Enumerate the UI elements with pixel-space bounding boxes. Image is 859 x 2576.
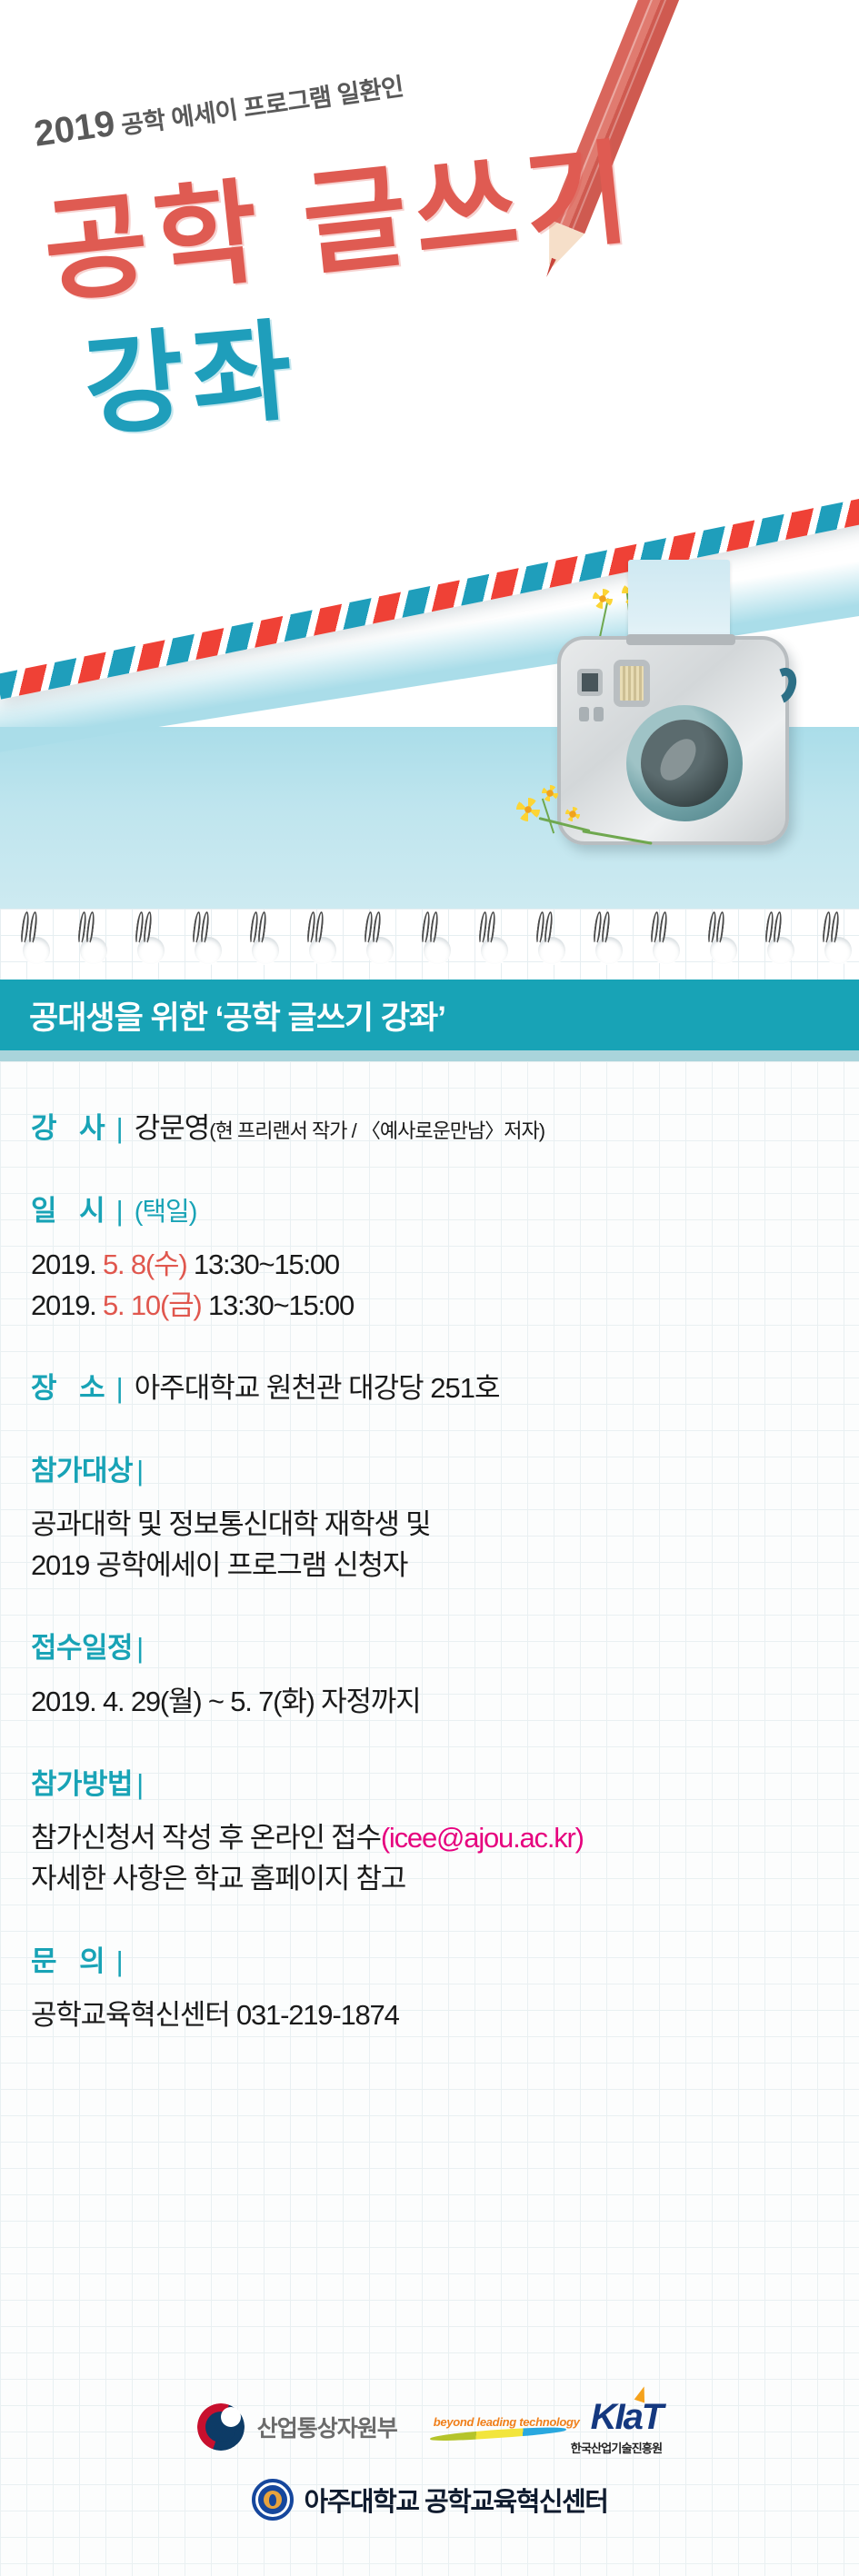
taegeuk-icon: [197, 2403, 245, 2451]
howto-email[interactable]: (icee@ajou.ac.kr): [381, 1822, 584, 1854]
section-instructor: 강 사 | 강문영 (현 프리랜서 작가 / 〈예사로운만남〉저자): [0, 1105, 859, 1146]
label-divider: |: [116, 1112, 124, 1145]
date-year: 2019.: [31, 1289, 96, 1321]
date-year: 2019.: [31, 1248, 96, 1280]
sponsor-logo-row: 산업통상자원부 beyond leading technology KIaT 한…: [0, 2397, 859, 2456]
camera-button: [579, 707, 589, 721]
ajou-university-seal-icon: [252, 2479, 294, 2521]
details-panel: 강 사 | 강문영 (현 프리랜서 작가 / 〈예사로운만남〉저자) 일 시 |…: [0, 1061, 859, 2576]
flower-cluster-bottom: [514, 783, 674, 870]
spiral-ring: [135, 911, 158, 979]
section-datetime: 일 시 | (택일) 2019. 5. 8(수) 13:30~15:00 201…: [0, 1188, 859, 1323]
spiral-ring: [650, 911, 674, 979]
motie-logo: 산업통상자원부: [197, 2403, 397, 2451]
section-venue: 장 소 | 아주대학교 원천관 대강당 251호: [0, 1365, 859, 1406]
subtitle-bar: 공대생을 위한 ‘공학 글쓰기 강좌’: [0, 980, 859, 1050]
date-time: 13:30~15:00: [208, 1289, 354, 1321]
registration-period-value: 2019. 4. 29(월) ~ 5. 7(화) 자정까지: [31, 1678, 828, 1719]
spiral-ring: [77, 911, 101, 979]
footer-logos: 산업통상자원부 beyond leading technology KIaT 한…: [0, 2381, 859, 2576]
poster-root: 2019 공학 에세이 프로그램 일환인 공학 글쓰기 강좌: [0, 0, 859, 2576]
spiral-ring: [822, 911, 845, 979]
venue-label: 장 소: [31, 1365, 113, 1406]
spiral-ring: [593, 911, 616, 979]
label-divider: |: [136, 1768, 144, 1801]
kiat-name-korean: 한국산업기술진흥원: [571, 2439, 662, 2456]
venue-value: 아주대학교 원천관 대강당 251호: [135, 1365, 500, 1406]
hero-artwork: 2019 공학 에세이 프로그램 일환인 공학 글쓰기 강좌: [0, 0, 859, 981]
kiat-slogan: beyond leading technology: [434, 2415, 580, 2438]
howto-prefix: 참가신청서 작성 후 온라인 접수: [31, 1822, 381, 1854]
contact-value: 공학교육혁신센터 031-219-1874: [31, 1992, 828, 2033]
howto-line-2: 자세한 사항은 학교 홈페이지 참고: [31, 1855, 828, 1896]
instructor-label: 강 사: [31, 1105, 113, 1146]
camera-button: [594, 707, 604, 721]
spiral-ring: [364, 911, 387, 979]
audience-label: 참가대상: [31, 1447, 133, 1488]
ajou-logo-text: 아주대학교 공학교육혁신센터: [305, 2481, 608, 2519]
motie-logo-text: 산업통상자원부: [257, 2411, 397, 2443]
howto-line-1: 참가신청서 작성 후 온라인 접수(icee@ajou.ac.kr): [31, 1815, 828, 1855]
label-divider: |: [136, 1455, 144, 1487]
kiat-wordmark-text: KIaT: [591, 2397, 663, 2437]
spiral-binding: [0, 909, 859, 983]
spiral-ring: [478, 911, 502, 979]
kiat-logo: beyond leading technology KIaT 한국산업기술진흥원: [434, 2397, 662, 2456]
label-divider: |: [116, 1195, 124, 1228]
spiral-rings: [0, 909, 859, 983]
spiral-ring: [535, 911, 559, 979]
registration-period-label: 접수일정: [31, 1625, 133, 1666]
label-divider: |: [116, 1945, 124, 1978]
spiral-ring: [249, 911, 273, 979]
date-time: 13:30~15:00: [194, 1248, 339, 1280]
spiral-ring: [306, 911, 330, 979]
audience-line: 공과대학 및 정보통신대학 재학생 및: [31, 1501, 828, 1542]
subtitle-text: 공대생을 위한 ‘공학 글쓰기 강좌’: [0, 992, 445, 1039]
section-audience: 참가대상 | 공과대학 및 정보통신대학 재학생 및 2019 공학에세이 프로…: [0, 1447, 859, 1583]
datetime-option-row: 2019. 5. 8(수) 13:30~15:00: [31, 1241, 828, 1282]
spiral-ring: [764, 911, 788, 979]
camera-photo-slot: [626, 634, 735, 645]
instructor-name: 강문영: [135, 1105, 210, 1146]
host-logo-row: 아주대학교 공학교육혁신센터: [0, 2479, 859, 2521]
spiral-ring: [20, 911, 44, 979]
instructor-credentials: (현 프리랜서 작가 / 〈예사로운만남〉저자): [209, 1115, 544, 1144]
spiral-ring: [421, 911, 444, 979]
section-howto: 참가방법 | 참가신청서 작성 후 온라인 접수(icee@ajou.ac.kr…: [0, 1761, 859, 1896]
airmail-stripe-top: [0, 0, 859, 14]
date-monthday: 5. 8(수): [103, 1248, 186, 1280]
flower-icon: [565, 807, 580, 821]
kiat-wordmark: KIaT: [591, 2397, 663, 2438]
contact-label: 문 의: [31, 1938, 113, 1979]
section-contact: 문 의 | 공학교육혁신센터 031-219-1874: [0, 1938, 859, 2033]
flower-icon: [593, 589, 613, 609]
flower-icon: [542, 785, 558, 801]
flower-icon: [516, 798, 540, 821]
details-content: 강 사 | 강문영 (현 프리랜서 작가 / 〈예사로운만남〉저자) 일 시 |…: [0, 1061, 859, 2033]
datetime-label: 일 시: [31, 1188, 113, 1228]
camera-viewfinder: [577, 669, 603, 696]
audience-line: 2019 공학에세이 프로그램 신청자: [31, 1542, 828, 1583]
spiral-ring: [707, 911, 731, 979]
date-monthday: 5. 10(금): [103, 1289, 202, 1321]
camera-lens-glare: [654, 732, 704, 787]
label-divider: |: [136, 1632, 144, 1665]
label-divider: |: [116, 1372, 124, 1405]
datetime-option-row: 2019. 5. 10(금) 13:30~15:00: [31, 1282, 828, 1323]
subtitle-bar-shadow: [0, 1050, 859, 1061]
spiral-ring: [192, 911, 215, 979]
camera-flash: [614, 660, 650, 707]
howto-label: 참가방법: [31, 1761, 133, 1802]
hero-title-line2: 강좌: [76, 282, 305, 458]
datetime-note: (택일): [135, 1190, 197, 1228]
section-registration-period: 접수일정 | 2019. 4. 29(월) ~ 5. 7(화) 자정까지: [0, 1625, 859, 1719]
